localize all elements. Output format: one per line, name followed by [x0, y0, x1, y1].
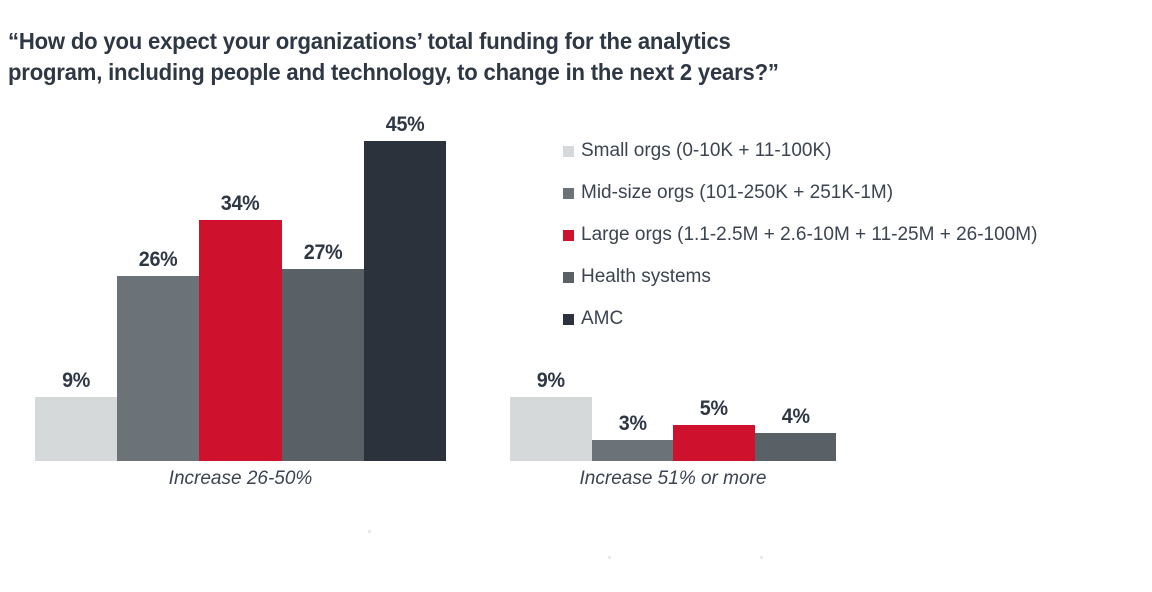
- legend-swatch-mid-size-orgs: [563, 188, 574, 199]
- legend-item[interactable]: Small orgs (0-10K + 11-100K): [563, 130, 1037, 172]
- bars-row: 9%26%34%27%45%: [35, 121, 446, 461]
- bar-value-label: 34%: [202, 192, 279, 216]
- bar-slot[interactable]: 26%: [117, 121, 199, 461]
- bar-rect[interactable]: [510, 397, 592, 461]
- legend-swatch-small-orgs: [563, 146, 574, 157]
- chart-root: “How do you expect your organizations’ t…: [0, 0, 1152, 592]
- bar-slot[interactable]: 45%: [364, 121, 446, 461]
- bar-value-label: 45%: [366, 113, 443, 137]
- bar-value-label: 27%: [284, 241, 361, 265]
- group-axis-label: Increase 51% or more: [510, 468, 836, 490]
- bar-value-label: 5%: [675, 397, 752, 421]
- legend-item-label: Health systems: [581, 267, 711, 287]
- bar-group: 9%26%34%27%45%Increase 26-50%: [35, 0, 446, 520]
- group-axis-label: Increase 26-50%: [35, 468, 446, 490]
- bar-value-label: 9%: [512, 369, 589, 393]
- bar-rect[interactable]: [282, 269, 364, 461]
- legend-item[interactable]: Large orgs (1.1-2.5M + 2.6-10M + 11-25M …: [563, 214, 1037, 256]
- scan-speck: [608, 556, 611, 559]
- legend-item[interactable]: AMC: [563, 298, 1037, 340]
- bar-rect[interactable]: [35, 397, 117, 461]
- bar-rect[interactable]: [673, 425, 755, 461]
- legend-swatch-amc: [563, 314, 574, 325]
- bar-value-label: 26%: [120, 248, 197, 272]
- bar-slot[interactable]: 9%: [35, 121, 117, 461]
- scan-speck: [368, 530, 371, 533]
- bar-value-label: 3%: [594, 412, 671, 436]
- legend-swatch-health-systems: [563, 272, 574, 283]
- bar-rect[interactable]: [755, 433, 837, 461]
- scan-speck: [760, 556, 763, 559]
- bar-slot[interactable]: 34%: [199, 121, 281, 461]
- bar-rect[interactable]: [199, 220, 281, 461]
- bar-rect[interactable]: [592, 440, 674, 461]
- bar-rect[interactable]: [364, 141, 446, 461]
- bar-slot[interactable]: 27%: [282, 121, 364, 461]
- legend-swatch-large-orgs: [563, 230, 574, 241]
- legend-item[interactable]: Health systems: [563, 256, 1037, 298]
- legend-item[interactable]: Mid-size orgs (101-250K + 251K-1M): [563, 172, 1037, 214]
- legend-item-label: Mid-size orgs (101-250K + 251K-1M): [581, 183, 893, 203]
- legend-item-label: Small orgs (0-10K + 11-100K): [581, 141, 831, 161]
- bar-rect[interactable]: [117, 276, 199, 461]
- bar-value-label: 9%: [37, 369, 114, 393]
- chart-legend: Small orgs (0-10K + 11-100K)Mid-size org…: [563, 130, 1037, 340]
- bar-value-label: 4%: [757, 405, 834, 429]
- legend-item-label: AMC: [581, 309, 623, 329]
- legend-item-label: Large orgs (1.1-2.5M + 2.6-10M + 11-25M …: [581, 225, 1037, 245]
